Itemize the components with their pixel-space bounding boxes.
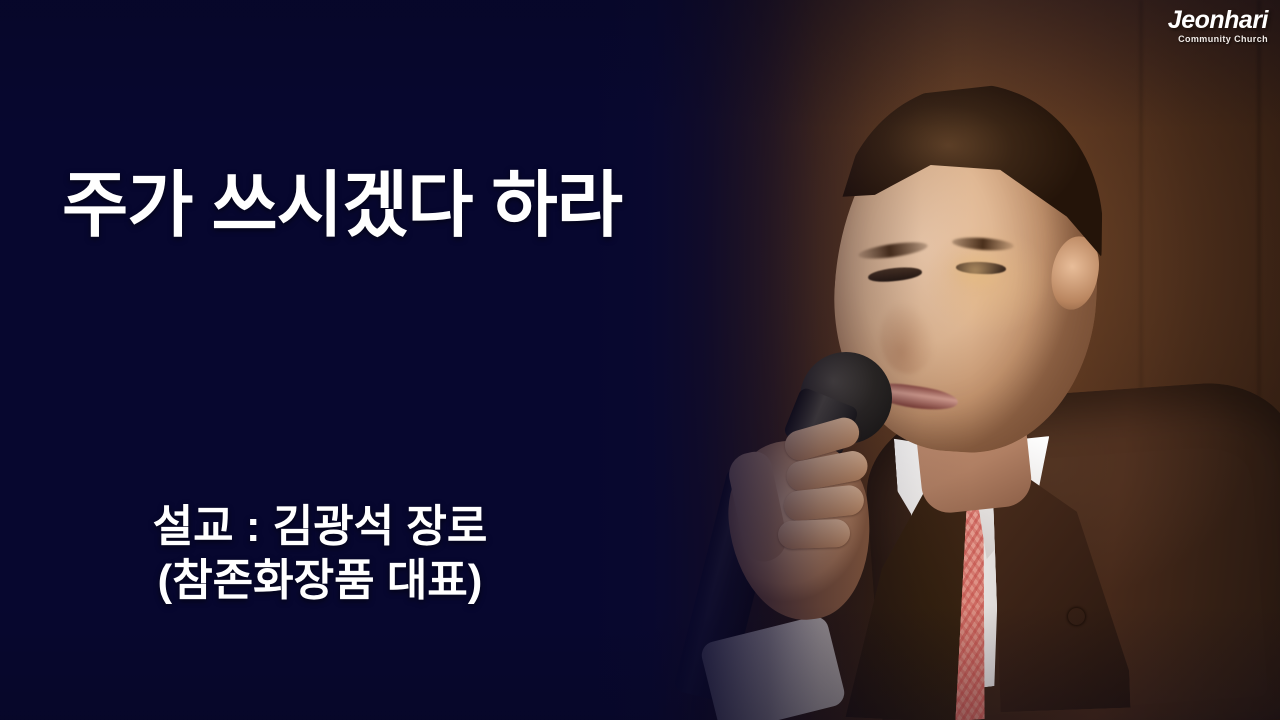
speaker-name-line: 설교 : 김광석 장로 bbox=[0, 500, 640, 554]
speaker-photo bbox=[0, 0, 1280, 720]
sermon-title-slide: 주가 쓰시겠다 하라 설교 : 김광석 장로 (참존화장품 대표) Jeonha… bbox=[0, 0, 1280, 720]
speaker-credit: 설교 : 김광석 장로 (참존화장품 대표) bbox=[0, 500, 640, 607]
sermon-title: 주가 쓰시겠다 하라 bbox=[62, 146, 622, 251]
speaker-affiliation-line: (참존화장품 대표) bbox=[0, 554, 640, 608]
church-logo: Jeonhari Community Church bbox=[1168, 8, 1268, 44]
photo-vertical-shade bbox=[0, 0, 1280, 720]
church-logo-tagline: Community Church bbox=[1168, 35, 1268, 44]
church-logo-name: Jeonhari bbox=[1168, 8, 1268, 33]
